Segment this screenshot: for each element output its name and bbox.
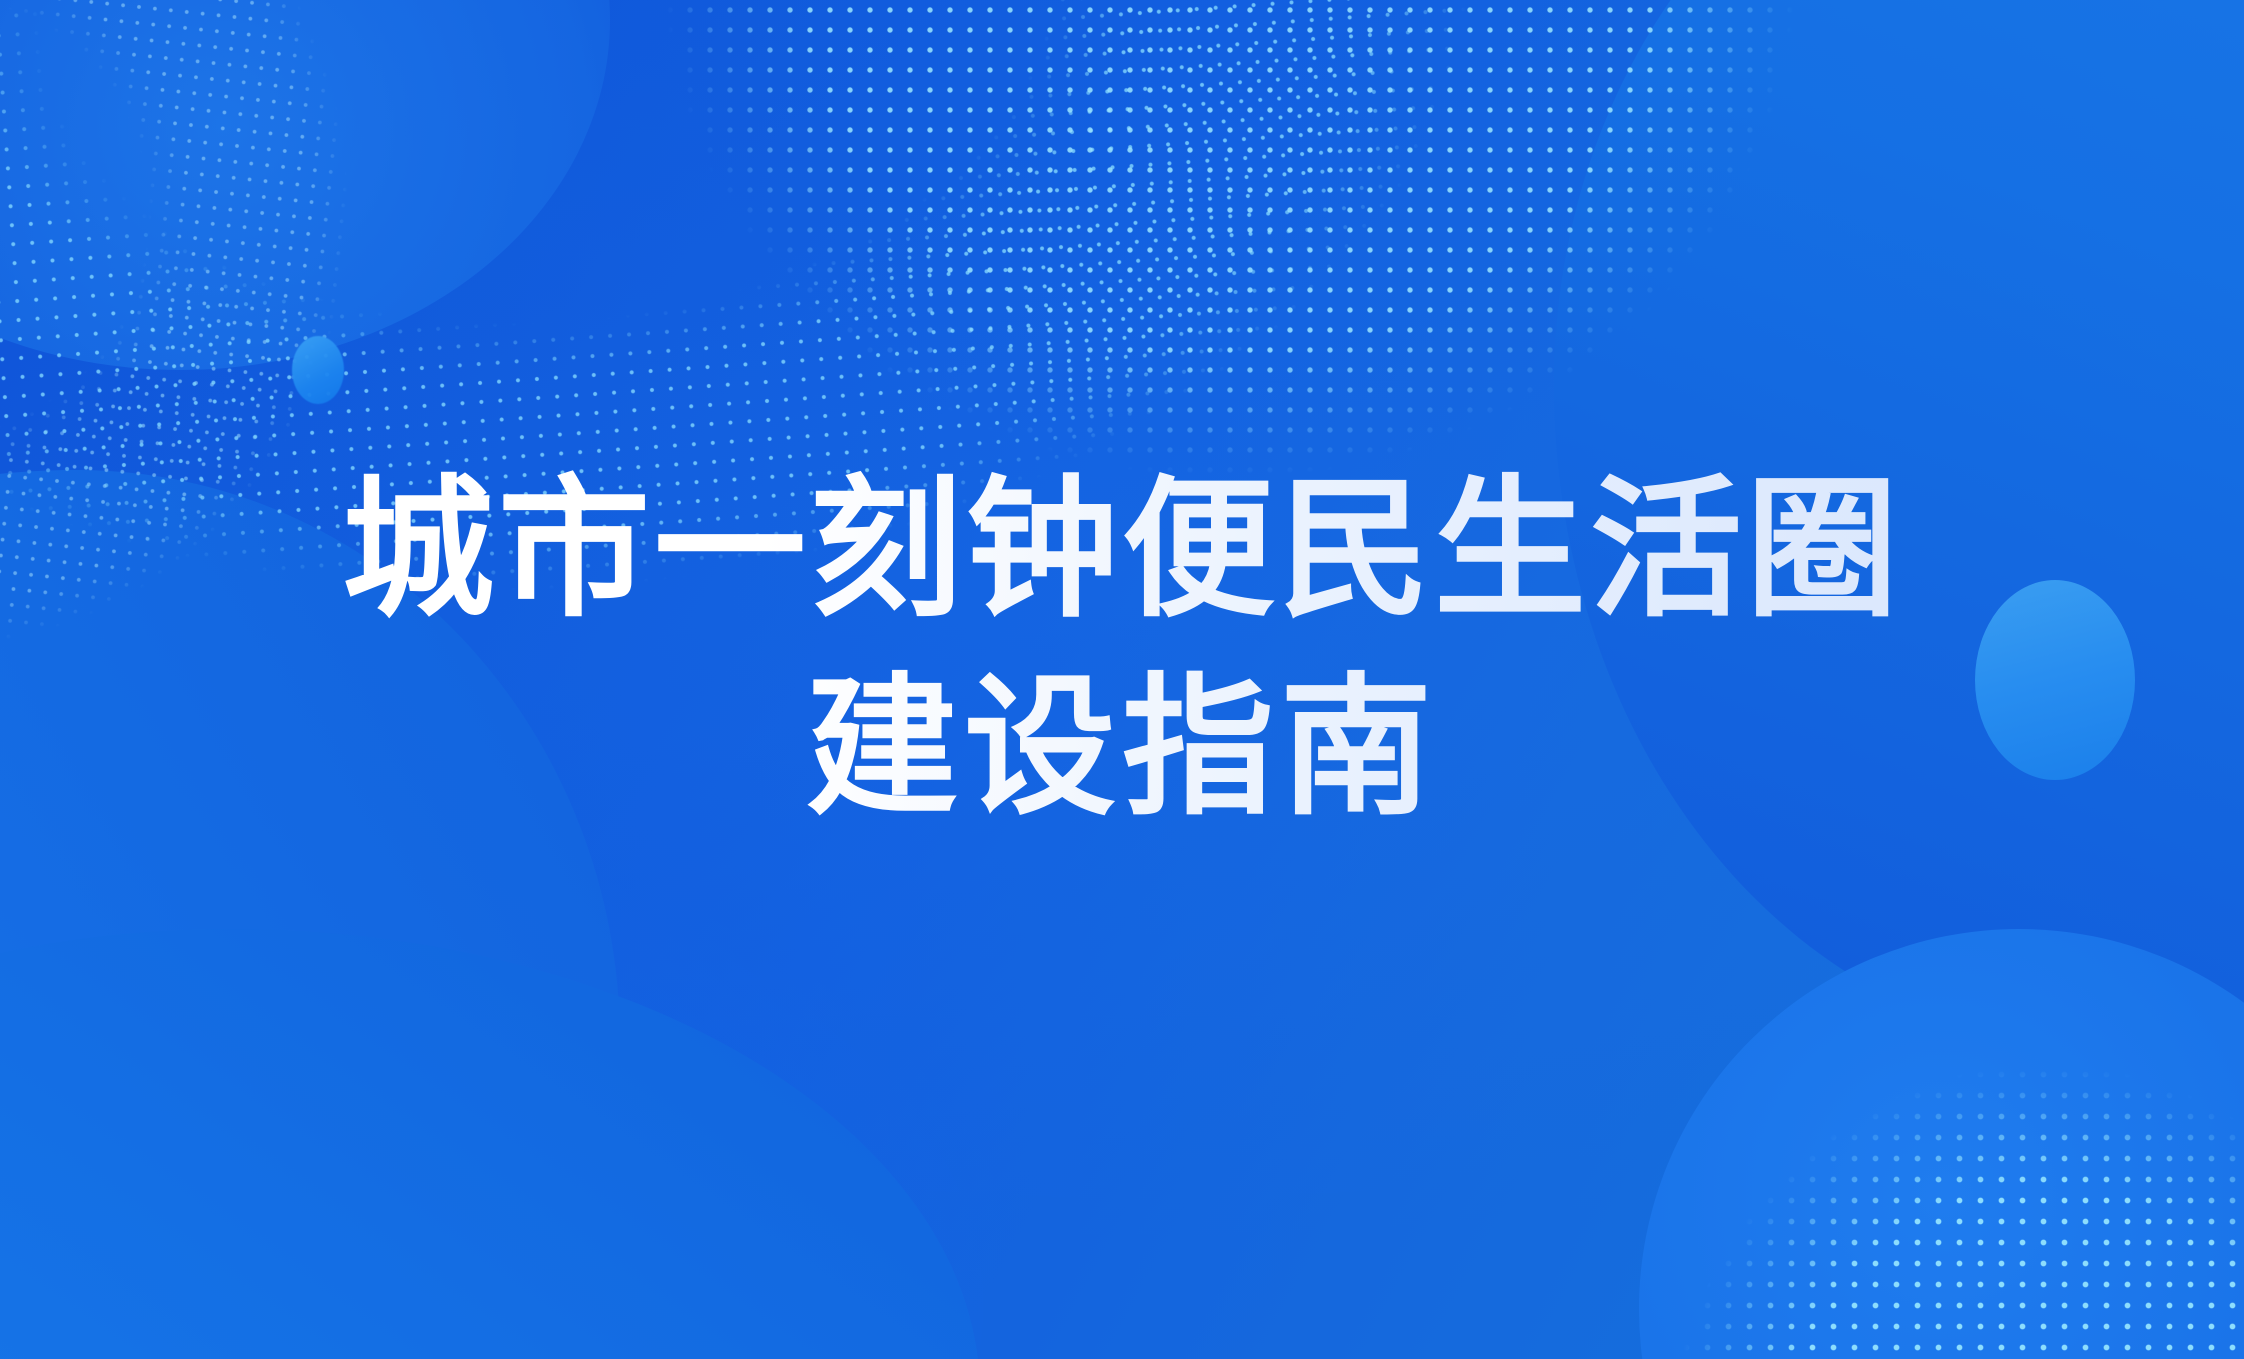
halftone-dot-arc-secondary [640, 0, 1820, 500]
title-line-2: 建设指南 [0, 650, 2244, 848]
poster-title: 城市一刻钟便民生活圈 建设指南 [0, 452, 2244, 847]
halftone-dot-bottom-right [1634, 959, 2244, 1359]
small-cyan-ellipse [292, 336, 344, 404]
title-line-1: 城市一刻钟便民生活圈 [0, 452, 2244, 650]
poster-banner: 城市一刻钟便民生活圈 建设指南 [0, 0, 2244, 1359]
